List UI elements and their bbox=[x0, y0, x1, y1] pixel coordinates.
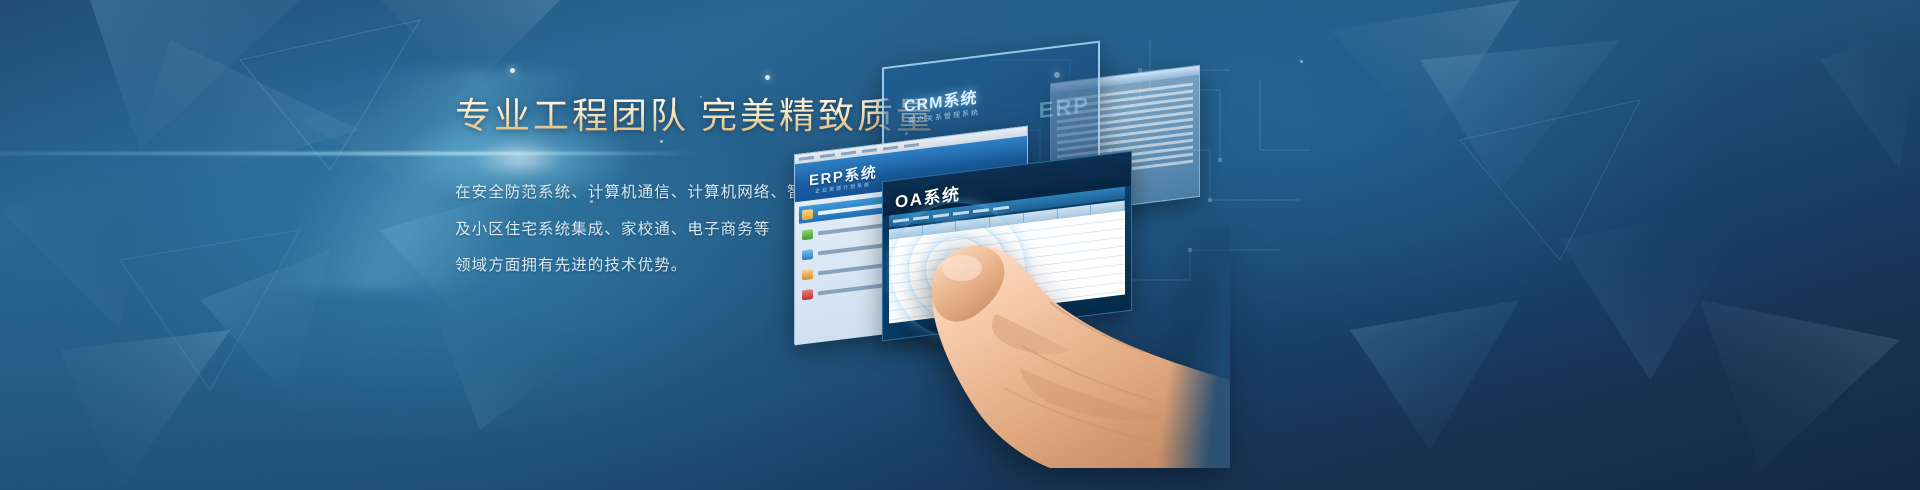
window-crm-ghost-label: ERP bbox=[1039, 92, 1090, 124]
report-icon bbox=[802, 249, 813, 260]
star-particle bbox=[510, 68, 515, 73]
erp-sidebar[interactable] bbox=[795, 190, 891, 345]
pointing-hand-illustration bbox=[900, 228, 1230, 468]
hero-banner: 专业工程团队 完美精致质量 在安全防范系统、计算机通信、计算机网络、智能大厦 及… bbox=[0, 0, 1920, 490]
folder-icon bbox=[802, 209, 813, 220]
chart-icon bbox=[802, 229, 813, 240]
hand-svg bbox=[900, 228, 1230, 468]
settings-icon bbox=[802, 289, 813, 300]
archive-icon bbox=[802, 269, 813, 280]
